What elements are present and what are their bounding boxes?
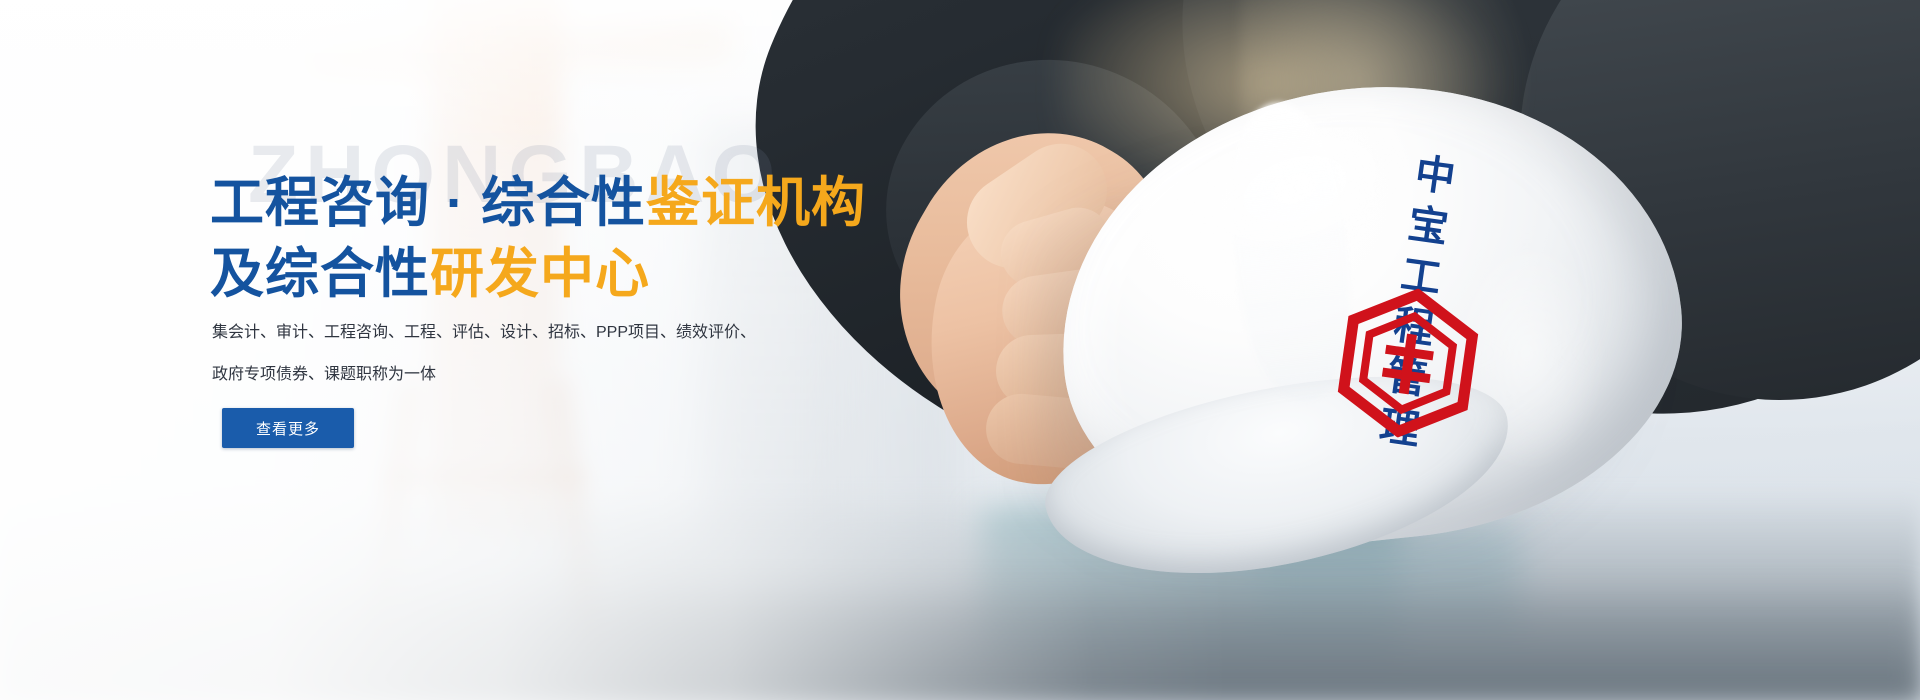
hero-headline: 工程咨询 · 综合性鉴证机构 及综合性研发中心	[210, 168, 866, 311]
zhongbao-hexagon-logo-icon	[1330, 279, 1486, 446]
headline-line-1-orange: 鉴证机构	[646, 173, 866, 233]
hero-banner: 中宝工程管理 ZHONGBAO 工程咨询 · 综合性鉴证机构 及综合性研发中心 …	[0, 0, 1920, 700]
headline-line-2-orange: 研发中心	[430, 244, 650, 304]
view-more-button[interactable]: 查看更多	[222, 408, 354, 448]
hero-content: ZHONGBAO 工程咨询 · 综合性鉴证机构 及综合性研发中心 集会计、审计、…	[0, 0, 900, 700]
headline-line-2: 及综合性研发中心	[210, 239, 866, 310]
description-line-1: 集会计、审计、工程咨询、工程、评估、设计、招标、PPP项目、绩效评价、	[212, 312, 832, 354]
hero-description: 集会计、审计、工程咨询、工程、评估、设计、招标、PPP项目、绩效评价、 政府专项…	[212, 312, 832, 395]
description-line-2: 政府专项债券、课题职称为一体	[212, 354, 832, 396]
hard-hat: 中宝工程管理	[1060, 88, 1680, 558]
headline-line-1: 工程咨询 · 综合性鉴证机构	[210, 168, 866, 239]
headline-line-1-blue: 工程咨询 · 综合性	[210, 173, 646, 233]
headline-line-2-blue: 及综合性	[210, 244, 430, 304]
